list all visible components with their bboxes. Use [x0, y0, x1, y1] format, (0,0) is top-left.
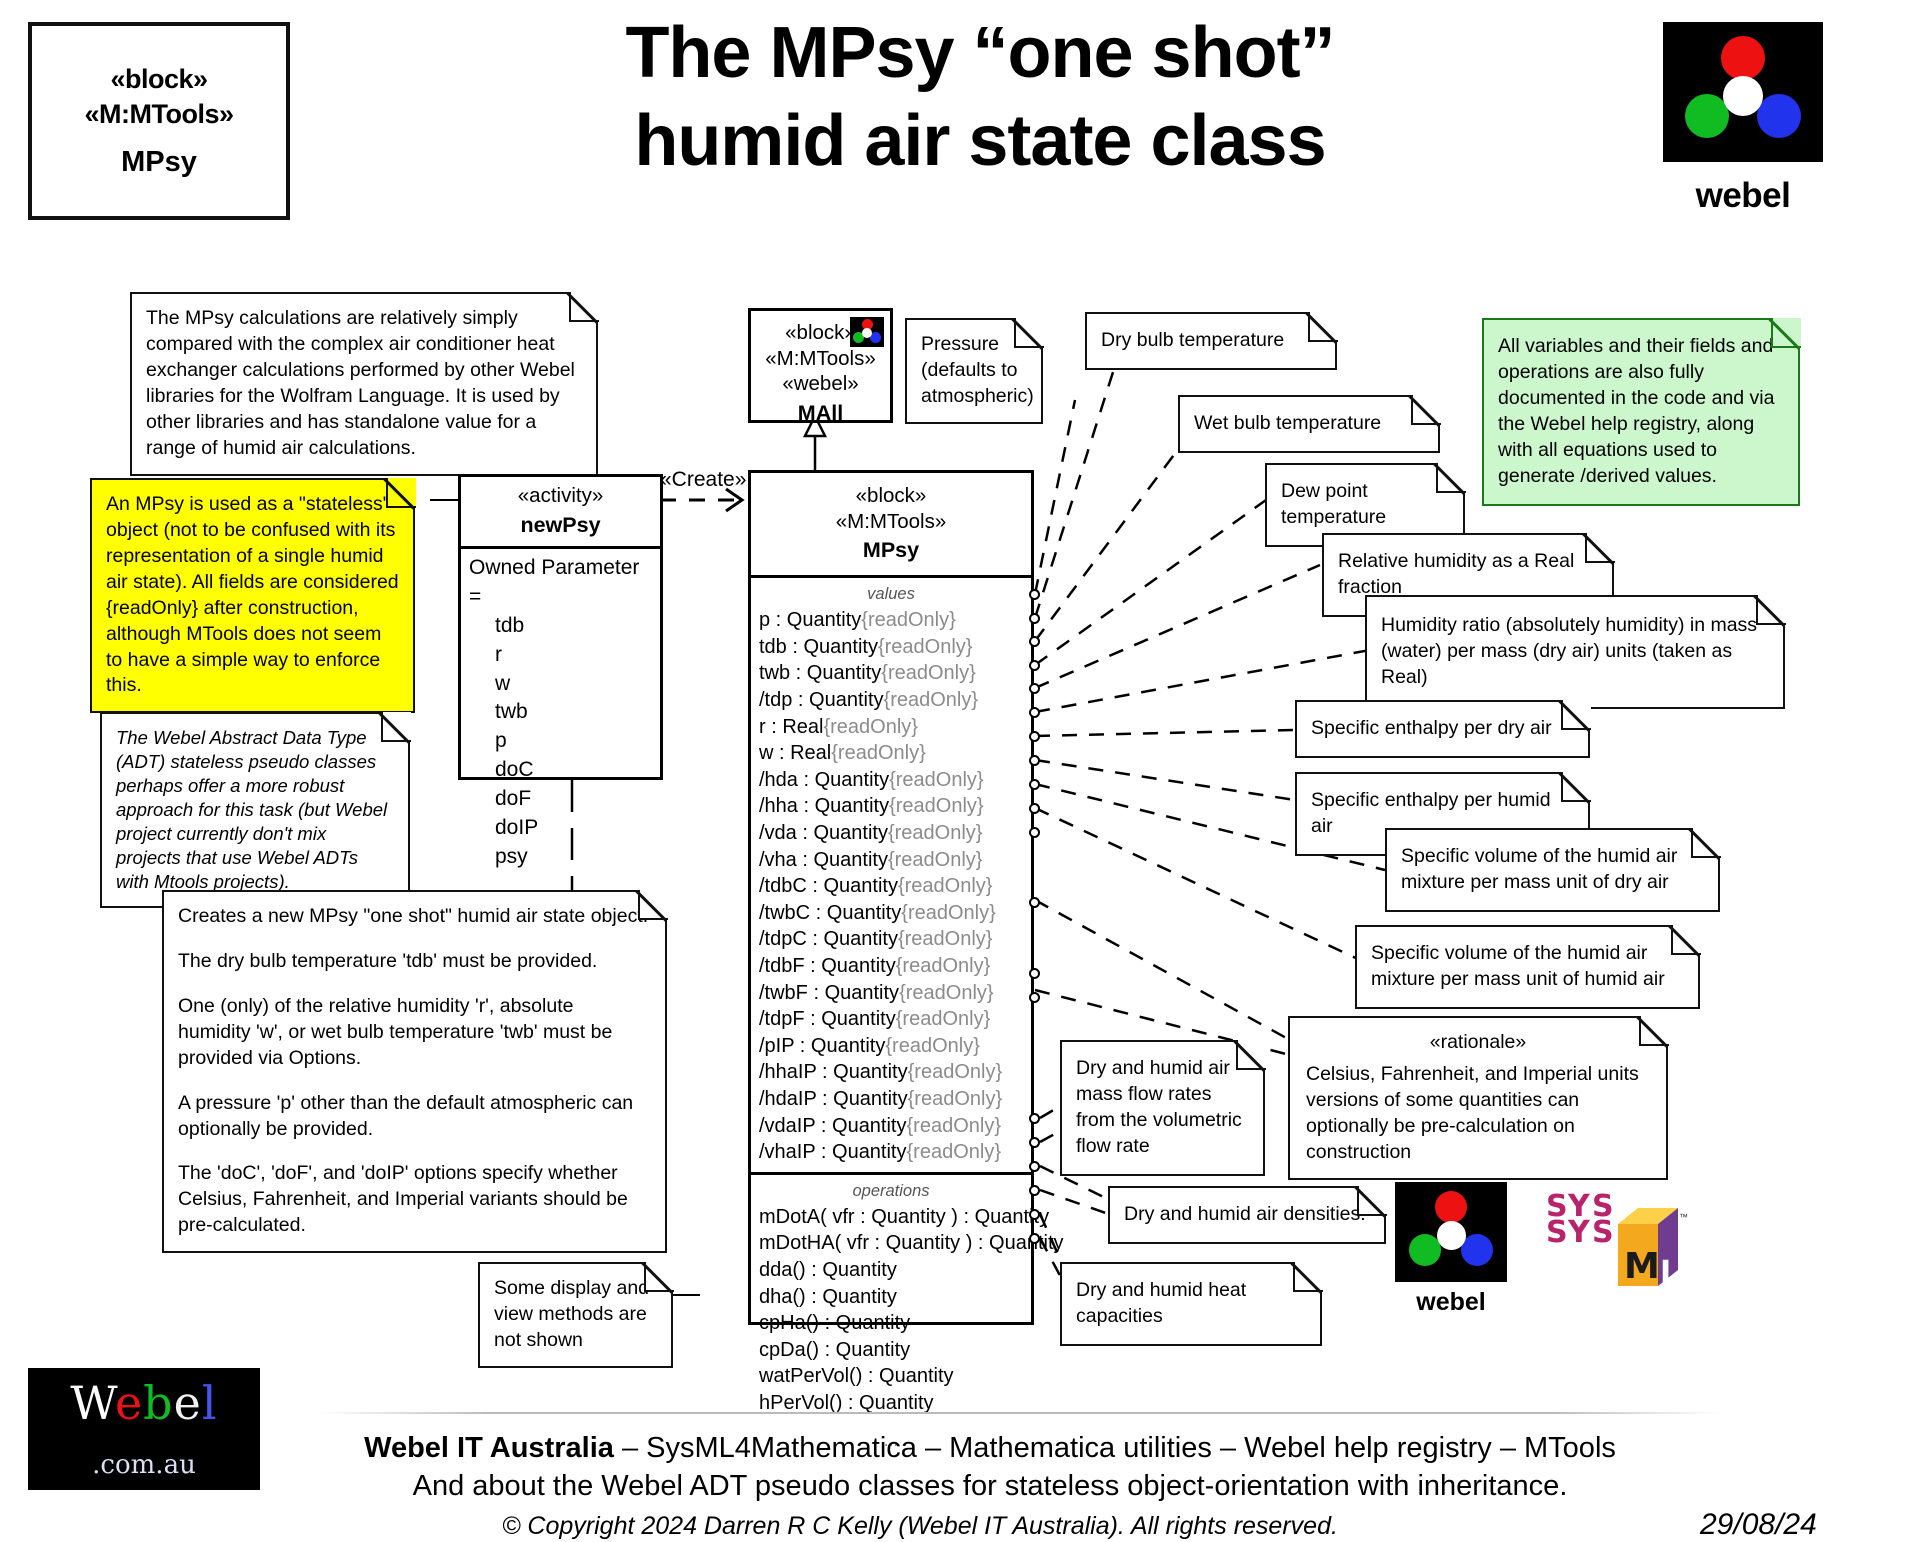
webel-logo-bottom-icon — [1395, 1182, 1507, 1282]
port-w[interactable] — [1029, 707, 1040, 718]
note-documented-text: All variables and their fields and opera… — [1498, 334, 1784, 490]
svg-text:M: M — [1624, 1246, 1660, 1287]
sysml-logo-icon: SYS SYS M L ™ — [1540, 1190, 1690, 1305]
note-rationale: «rationale» Celsius, Fahrenheit, and Imp… — [1288, 1016, 1668, 1180]
value-hhaIP: /hhaIP : Quantity{readOnly} — [759, 1059, 1023, 1086]
activity-param-dof: doF — [469, 785, 652, 814]
note-volume-dry-text: Specific volume of the humid air mixture… — [1401, 844, 1704, 896]
operation-cpDa: cpDa() : Quantity — [759, 1337, 1023, 1364]
activity-name: newPsy — [469, 513, 652, 538]
note-adt-text: The Webel Abstract Data Type (ADT) state… — [116, 726, 394, 894]
port-dha[interactable] — [1029, 1185, 1040, 1196]
page-title: The MPsy “one shot” humid air state clas… — [380, 10, 1580, 186]
maii-stereotype-mtools: «M:MTools» — [759, 346, 882, 372]
values-list: p : Quantity{readOnly}tdb : Quantity{rea… — [759, 607, 1023, 1165]
value-vda: /vda : Quantity{readOnly} — [759, 820, 1023, 847]
white-dot-icon — [862, 328, 872, 338]
footer-brand: Webel IT Australia — [364, 1432, 622, 1464]
operation-cpHa: cpHa() : Quantity — [759, 1310, 1023, 1337]
activity-stereotype: «activity» — [469, 483, 652, 509]
mpsy-block-name: MPsy — [759, 538, 1023, 563]
note-humidity-ratio-text: Humidity ratio (absolutely humidity) in … — [1381, 613, 1769, 691]
value-pIP: /pIP : Quantity{readOnly} — [759, 1033, 1023, 1060]
value-r: r : Real{readOnly} — [759, 714, 1023, 741]
footer-line-2: And about the Webel ADT pseudo classes f… — [250, 1470, 1730, 1503]
note-heat-capacities: Dry and humid heat capacities — [1060, 1262, 1322, 1346]
port-tdbC[interactable] — [1029, 827, 1040, 838]
footer-line-1: Webel IT Australia – SysML4Mathematica –… — [250, 1432, 1730, 1465]
webel-wordmark-bottom: webel — [1395, 1288, 1507, 1317]
value-vdaIP: /vdaIP : Quantity{readOnly} — [759, 1113, 1023, 1140]
activity-param-r: r — [469, 641, 652, 670]
value-twbC: /twbC : Quantity{readOnly} — [759, 900, 1023, 927]
operation-watPerVol: watPerVol() : Quantity — [759, 1363, 1023, 1390]
webel-footer-domain: .com.au — [28, 1450, 260, 1480]
svg-text:Y: Y — [1567, 1215, 1591, 1250]
note-creates-p5: The 'doC', 'doF', and 'doIP' options spe… — [178, 1161, 651, 1239]
note-specific-volume-humid-air: Specific volume of the humid air mixture… — [1355, 925, 1700, 1009]
page-title-line1: The MPsy “one shot” — [380, 10, 1580, 98]
mpsy-stereotype-block: «block» — [759, 483, 1023, 509]
port-mDotHA[interactable] — [1029, 1137, 1040, 1148]
note-air-densities: Dry and humid air densities. — [1108, 1186, 1386, 1244]
port-cpHa[interactable] — [1029, 1209, 1040, 1220]
port-dda[interactable] — [1029, 1161, 1040, 1172]
badge-stereotype-block: «block» — [110, 64, 207, 95]
mpsy-stereotype-mtools: «M:MTools» — [759, 509, 1023, 535]
port-mDotA[interactable] — [1029, 1113, 1040, 1124]
footer-divider — [320, 1412, 1720, 1414]
activity-param-twb: twb — [469, 698, 652, 727]
port-tdbF[interactable] — [1029, 897, 1040, 908]
note-relative-humidity-text: Relative humidity as a Real fraction — [1338, 549, 1598, 601]
note-mass-flow-text: Dry and humid air mass flow rates from t… — [1076, 1056, 1249, 1160]
note-dry-bulb-text: Dry bulb temperature — [1101, 328, 1321, 354]
svg-text:L: L — [1660, 1255, 1679, 1290]
port-r[interactable] — [1029, 683, 1040, 694]
webel-footer-wordmark: Webel — [28, 1376, 260, 1430]
rationale-stereotype: «rationale» — [1306, 1030, 1650, 1056]
maii-block-name: MAll — [759, 401, 882, 426]
note-creates: Creates a new MPsy "one shot" humid air … — [162, 890, 667, 1253]
green-dot-icon — [1685, 94, 1729, 138]
value-hha: /hha : Quantity{readOnly} — [759, 793, 1023, 820]
note-dry-bulb-temperature: Dry bulb temperature — [1085, 312, 1337, 370]
port-cpDa[interactable] — [1029, 1233, 1040, 1244]
webel-wordmark: webel — [1663, 176, 1823, 216]
note-volume-humid-text: Specific volume of the humid air mixture… — [1371, 941, 1684, 993]
note-rationale-text: Celsius, Fahrenheit, and Imperial units … — [1306, 1062, 1650, 1166]
note-creates-p3: One (only) of the relative humidity 'r',… — [178, 994, 651, 1072]
value-tdpF: /tdpF : Quantity{readOnly} — [759, 1006, 1023, 1033]
maii-block[interactable]: «block» «M:MTools» «webel» MAll — [748, 308, 893, 423]
activity-param-w: w — [469, 670, 652, 699]
port-hha[interactable] — [1029, 755, 1040, 766]
port-pIP[interactable] — [1029, 968, 1040, 979]
badge-stereotype-mtools: «M:MTools» — [85, 99, 234, 130]
create-edge-label: «Create» — [660, 468, 746, 492]
badge-name: MPsy — [121, 146, 197, 179]
activity-param-psy: psy — [469, 843, 652, 872]
port-hda[interactable] — [1029, 731, 1040, 742]
port-tdp[interactable] — [1029, 660, 1040, 671]
note-densities-text: Dry and humid air densities. — [1124, 1202, 1370, 1228]
note-mass-flow-rates: Dry and humid air mass flow rates from t… — [1060, 1040, 1265, 1176]
value-vha: /vha : Quantity{readOnly} — [759, 847, 1023, 874]
operations-list: mDotA( vfr : Quantity ) : QuantitymDotHA… — [759, 1204, 1023, 1453]
owned-parameter-label: Owned Parameter = — [469, 554, 652, 612]
note-wet-bulb-temperature: Wet bulb temperature — [1178, 395, 1440, 453]
note-stateless: An MPsy is used as a "stateless" object … — [90, 478, 415, 713]
note-display-methods: Some display and view methods are not sh… — [478, 1262, 673, 1368]
red-dot-icon — [1435, 1191, 1467, 1223]
port-twb[interactable] — [1029, 636, 1040, 647]
note-humidity-ratio: Humidity ratio (absolutely humidity) in … — [1365, 595, 1785, 709]
page-title-line2: humid air state class — [380, 98, 1580, 186]
note-specific-volume-dry-air: Specific volume of the humid air mixture… — [1385, 828, 1720, 912]
value-tdpC: /tdpC : Quantity{readOnly} — [759, 926, 1023, 953]
mpsy-block-badge: «block» «M:MTools» MPsy — [28, 22, 290, 220]
port-vha[interactable] — [1029, 803, 1040, 814]
operation-dha: dha() : Quantity — [759, 1284, 1023, 1311]
port-tdb[interactable] — [1029, 613, 1040, 624]
webel-footer-logo: Webel .com.au — [28, 1368, 260, 1490]
activity-param-doc: doC — [469, 756, 652, 785]
svg-text:™: ™ — [1679, 1212, 1688, 1222]
blue-dot-icon — [1461, 1234, 1493, 1266]
footer-line1-rest: – SysML4Mathematica – Mathematica utilit… — [622, 1432, 1616, 1464]
note-creates-p4: A pressure 'p' other than the default at… — [178, 1091, 651, 1143]
value-tdbF: /tdbF : Quantity{readOnly} — [759, 953, 1023, 980]
note-wet-bulb-text: Wet bulb temperature — [1194, 411, 1424, 437]
note-adt: The Webel Abstract Data Type (ADT) state… — [100, 712, 410, 908]
operation-mDotA: mDotA( vfr : Quantity ) : Quantity — [759, 1204, 1023, 1231]
activity-newpsy[interactable]: «activity» newPsy Owned Parameter = tdb … — [458, 474, 663, 780]
value-twbF: /twbF : Quantity{readOnly} — [759, 980, 1023, 1007]
red-dot-icon — [1721, 36, 1765, 80]
note-stateless-text: An MPsy is used as a "stateless" object … — [106, 492, 399, 699]
note-creates-p1: Creates a new MPsy "one shot" humid air … — [178, 904, 651, 930]
white-dot-icon — [1723, 76, 1763, 116]
value-tdbC: /tdbC : Quantity{readOnly} — [759, 873, 1023, 900]
activity-param-p: p — [469, 727, 652, 756]
footer-copyright: © Copyright 2024 Darren R C Kelly (Webel… — [250, 1512, 1590, 1541]
footer-date: 29/08/24 — [1700, 1508, 1817, 1542]
note-intro-text: The MPsy calculations are relatively sim… — [146, 306, 582, 462]
value-hda: /hda : Quantity{readOnly} — [759, 767, 1023, 794]
mpsy-block[interactable]: «block» «M:MTools» MPsy values p : Quant… — [748, 470, 1034, 1325]
value-w: w : Real{readOnly} — [759, 740, 1023, 767]
note-intro: The MPsy calculations are relatively sim… — [130, 292, 598, 476]
note-specific-enthalpy-dry-air: Specific enthalpy per dry air — [1295, 700, 1590, 758]
operations-compartment-title: operations — [759, 1182, 1023, 1201]
note-heat-capacities-text: Dry and humid heat capacities — [1076, 1278, 1306, 1330]
note-enthalpy-dry-text: Specific enthalpy per dry air — [1311, 716, 1574, 742]
webel-logo-icon — [1663, 22, 1823, 162]
diagram-canvas: «block» «M:MTools» MPsy The MPsy “one sh… — [0, 0, 1920, 1498]
operation-dda: dda() : Quantity — [759, 1257, 1023, 1284]
operation-mDotHA: mDotHA( vfr : Quantity ) : Quantity — [759, 1230, 1023, 1257]
note-pressure: Pressure (defaults to atmospheric) — [905, 318, 1043, 424]
activity-param-doip: doIP — [469, 814, 652, 843]
green-dot-icon — [1409, 1234, 1441, 1266]
activity-param-tdb: tdb — [469, 612, 652, 641]
value-hdaIP: /hdaIP : Quantity{readOnly} — [759, 1086, 1023, 1113]
value-p: p : Quantity{readOnly} — [759, 607, 1023, 634]
note-dew-point-text: Dew point temperature — [1281, 479, 1449, 531]
value-tdb: tdb : Quantity{readOnly} — [759, 634, 1023, 661]
value-tdp: /tdp : Quantity{readOnly} — [759, 687, 1023, 714]
port-vda[interactable] — [1029, 779, 1040, 790]
note-creates-p2: The dry bulb temperature 'tdb' must be p… — [178, 949, 651, 975]
blue-dot-icon — [1757, 94, 1801, 138]
value-twb: twb : Quantity{readOnly} — [759, 660, 1023, 687]
value-vhaIP: /vhaIP : Quantity{readOnly} — [759, 1139, 1023, 1166]
note-documentation: All variables and their fields and opera… — [1482, 318, 1800, 506]
values-compartment-title: values — [759, 585, 1023, 604]
port-hhaIP[interactable] — [1029, 992, 1040, 1003]
maii-stereotype-webel: «webel» — [759, 371, 882, 397]
webel-mini-logo-icon — [850, 317, 884, 347]
svg-text:S: S — [1546, 1215, 1568, 1250]
white-dot-icon — [1437, 1221, 1466, 1250]
port-p[interactable] — [1029, 589, 1040, 600]
svg-text:S: S — [1592, 1215, 1614, 1250]
note-display-text: Some display and view methods are not sh… — [494, 1276, 657, 1354]
